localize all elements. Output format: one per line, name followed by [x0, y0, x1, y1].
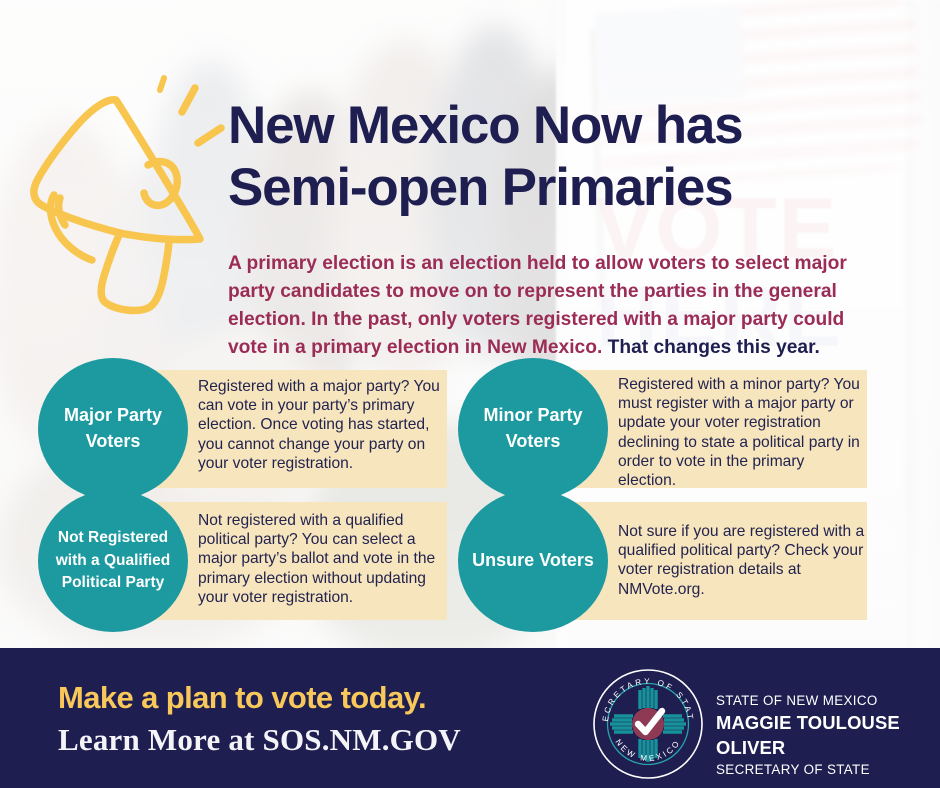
card-label-bubble: Minor Party Voters [458, 358, 608, 500]
card-panel: Registered with a minor party? You must … [573, 370, 867, 488]
card-panel: Not registered with a qualified politica… [153, 502, 447, 620]
cta-website-link[interactable]: Learn More at SOS.NM.GOV [58, 722, 461, 758]
call-to-action: Make a plan to vote today. Learn More at… [58, 680, 461, 758]
card-body-text: Registered with a minor party? You must … [618, 375, 866, 490]
infographic-poster: VOTE HERE New Mexico Now has Semi-open P… [0, 0, 940, 788]
card-label-bubble: Major Party Voters [38, 358, 188, 500]
card-panel: Not sure if you are registered with a qu… [573, 502, 867, 620]
card-label-bubble: Unsure Voters [458, 490, 608, 632]
card-body-text: Not registered with a qualified politica… [198, 511, 446, 607]
intro-paragraph: A primary election is an election held t… [228, 250, 883, 362]
secretary-of-state-seal-icon: SECRETARY OF STATE NEW MEXICO [592, 668, 704, 780]
official-title: SECRETARY OF STATE [716, 761, 940, 779]
card-label-bubble: Not Registered with a Qualified Politica… [38, 490, 188, 632]
megaphone-icon [24, 70, 234, 320]
headline-line-2: Semi-open Primaries [228, 157, 918, 219]
card-panel: Registered with a major party? You can v… [153, 370, 447, 488]
state-name: STATE OF NEW MEXICO [716, 692, 940, 710]
headline-line-1: New Mexico Now has [228, 96, 742, 155]
card-body-text: Not sure if you are registered with a qu… [618, 522, 866, 599]
official-name: MAGGIE TOULOUSE OLIVER [716, 711, 940, 760]
card-body-text: Registered with a major party? You can v… [198, 377, 446, 473]
cta-headline: Make a plan to vote today. [58, 680, 461, 716]
page-title: New Mexico Now has Semi-open Primaries [228, 95, 918, 219]
intro-emphasis-text: That changes this year. [608, 337, 820, 358]
official-credit-block: STATE OF NEW MEXICO MAGGIE TOULOUSE OLIV… [716, 692, 940, 779]
